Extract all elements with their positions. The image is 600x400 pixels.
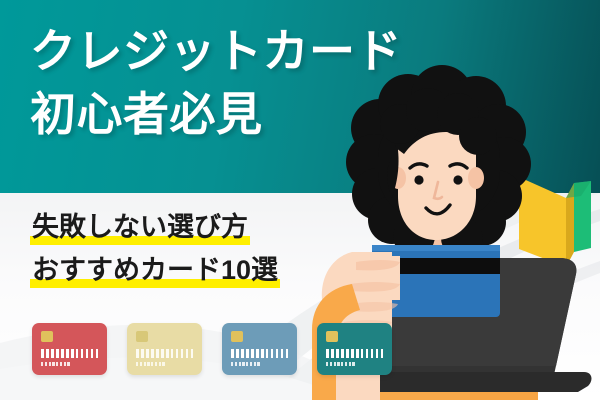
chip-icon [326, 331, 338, 342]
card-number-blocks [231, 349, 288, 358]
subtitle-line-1-text: 失敗しない選び方 [32, 212, 248, 242]
mini-card-row [32, 323, 392, 375]
headline-line-1: クレジットカード [30, 20, 402, 83]
card-name-blocks [136, 362, 165, 366]
mini-card-cream [127, 323, 202, 375]
subtitle: 失敗しない選び方 おすすめカード10選 [30, 214, 280, 300]
card-number-blocks [41, 349, 98, 358]
headline-line-2: 初心者必見 [30, 83, 402, 146]
subtitle-line-2: おすすめカード10選 [30, 257, 280, 288]
subtitle-line-2-text: おすすめカード10選 [32, 255, 278, 285]
chip-icon [41, 331, 53, 342]
mini-card-red [32, 323, 107, 375]
chip-icon [231, 331, 243, 342]
headline: クレジットカード 初心者必見 [30, 20, 402, 145]
card-number-blocks [326, 349, 383, 358]
card-name-blocks [326, 362, 355, 366]
chip-icon [136, 331, 148, 342]
subtitle-line-1: 失敗しない選び方 [30, 214, 250, 245]
mini-card-blue [222, 323, 297, 375]
credit-card-banner: クレジットカード 初心者必見 失敗しない選び方 おすすめカード10選 [0, 0, 600, 400]
card-number-blocks [136, 349, 193, 358]
card-name-blocks [41, 362, 70, 366]
mini-card-teal [317, 323, 392, 375]
card-name-blocks [231, 362, 260, 366]
